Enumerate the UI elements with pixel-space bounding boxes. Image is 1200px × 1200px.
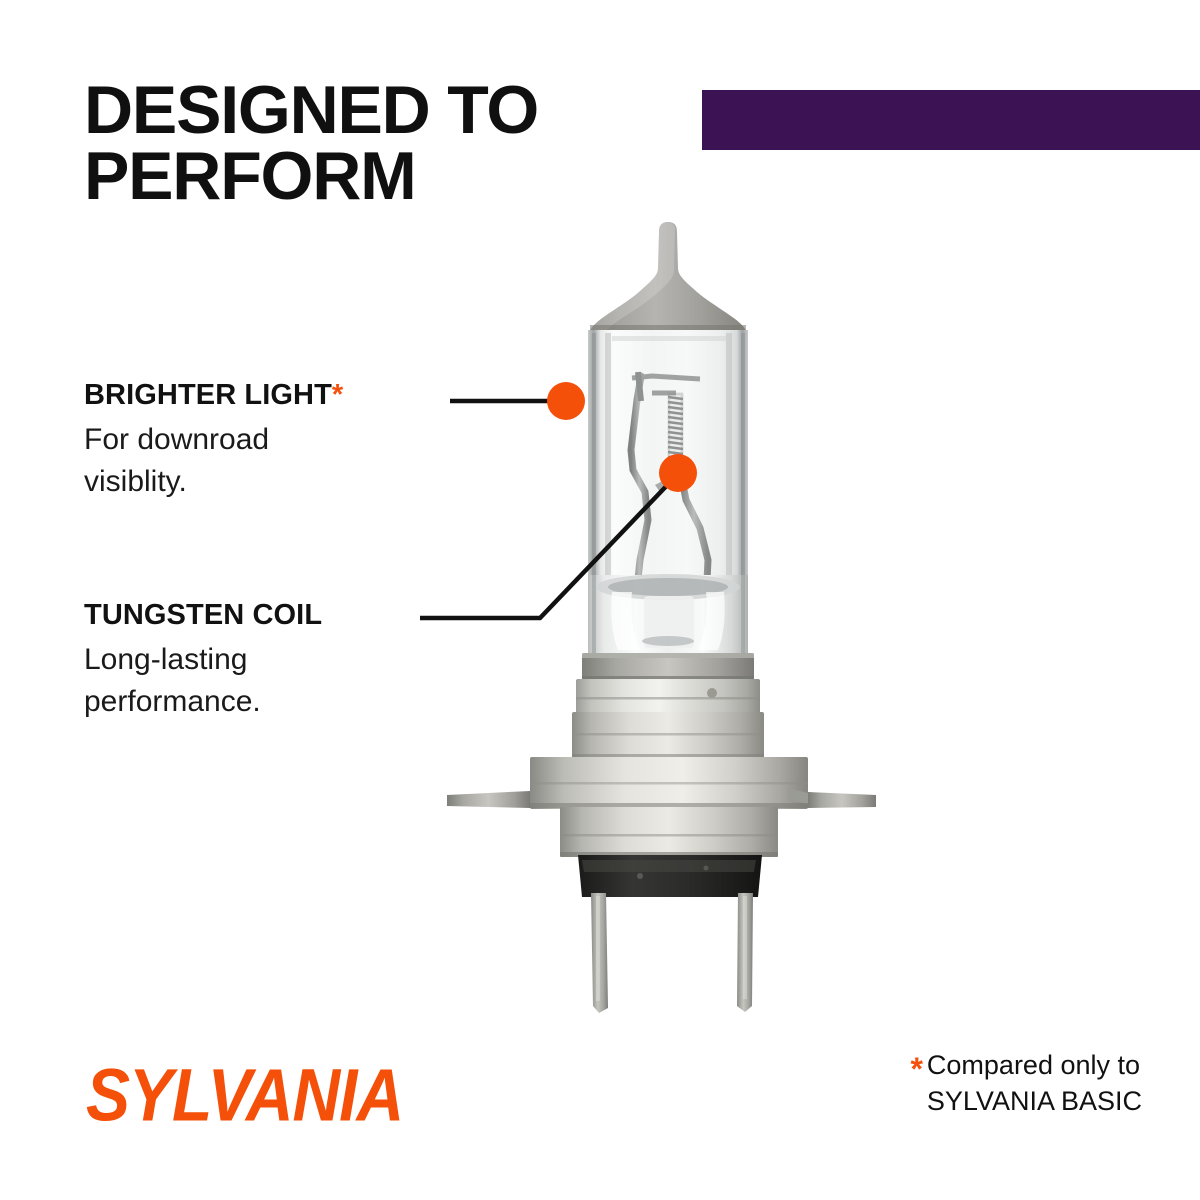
base-upper-collar (582, 653, 754, 681)
glass-pinch-seal (588, 574, 748, 655)
callout-tungsten-coil: TUNGSTEN COIL Long-lasting performance. (84, 600, 484, 722)
sylvania-logo: SYLVANIA (86, 1052, 403, 1137)
bulb-gray-tip (590, 222, 746, 334)
callout-tungsten-coil-title: TUNGSTEN COIL (84, 600, 484, 630)
callout-brighter-light: BRIGHTER LIGHT* For downroad visiblity. (84, 380, 484, 502)
asterisk-marker-icon: * (332, 379, 343, 411)
tungsten-coil (668, 394, 683, 468)
base-lower-collar (572, 712, 764, 760)
callout-brighter-light-title-text: BRIGHTER LIGHT (84, 379, 332, 411)
callout-tungsten-coil-body: Long-lasting performance. (84, 639, 484, 722)
infographic-canvas: DESIGNED TO PERFORM (0, 0, 1200, 1200)
callout-brighter-light-body: For downroad visiblity. (84, 419, 484, 502)
callout-tungsten-coil-title-text: TUNGSTEN COIL (84, 599, 322, 631)
footnote: *Compared only to SYLVANIA BASIC (910, 1048, 1142, 1120)
base-flange (447, 757, 876, 809)
terminal-blades (591, 893, 753, 1013)
black-insulator-block (578, 855, 762, 897)
footnote-text: Compared only to SYLVANIA BASIC (927, 1048, 1142, 1120)
base-mid-collar (576, 679, 760, 714)
base-bottom-collar (560, 807, 778, 857)
footnote-asterisk-icon: * (910, 1051, 922, 1087)
callout-brighter-light-title: BRIGHTER LIGHT* (84, 380, 484, 410)
